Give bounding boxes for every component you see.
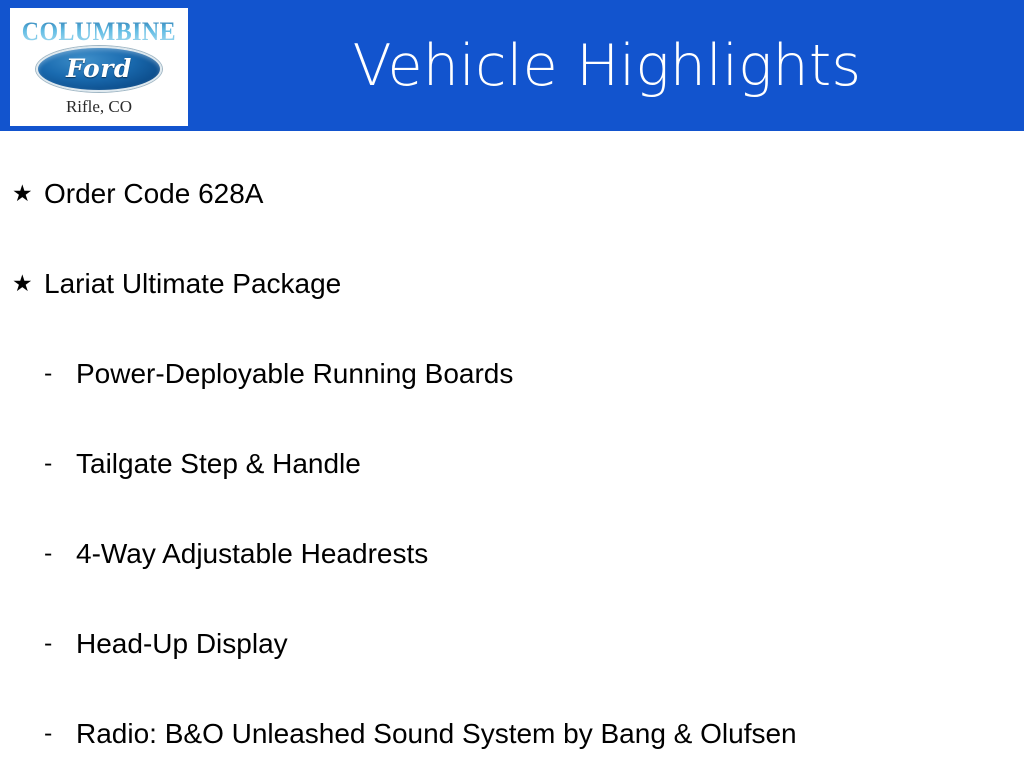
list-item: - Tailgate Step & Handle xyxy=(0,419,1024,509)
list-item-label: 4-Way Adjustable Headrests xyxy=(76,537,428,571)
page-title: Vehicle Highlights xyxy=(190,0,1024,131)
list-item: - Power-Deployable Running Boards xyxy=(0,329,1024,419)
ford-wordmark: Ford xyxy=(36,46,162,92)
dash-bullet-icon: - xyxy=(44,363,76,386)
list-item: - 4-Way Adjustable Headrests xyxy=(0,509,1024,599)
dash-bullet-icon: - xyxy=(44,723,76,746)
logo-brand-name: COLUMBINE xyxy=(22,19,176,45)
list-item-label: Head-Up Display xyxy=(76,627,288,661)
list-item: ★ Order Code 628A xyxy=(0,149,1024,239)
list-item: ★ Lariat Ultimate Package xyxy=(0,239,1024,329)
list-item-label: Radio: B&O Unleashed Sound System by Ban… xyxy=(76,717,797,751)
dash-bullet-icon: - xyxy=(44,453,76,476)
star-bullet-icon: ★ xyxy=(12,183,44,206)
slide-content: ★ Order Code 628A ★ Lariat Ultimate Pack… xyxy=(0,131,1024,768)
list-item: - Head-Up Display xyxy=(0,599,1024,689)
logo-location-label: Rifle, CO xyxy=(66,97,132,116)
list-item-label: Power-Deployable Running Boards xyxy=(76,357,513,391)
list-item: - Radio: B&O Unleashed Sound System by B… xyxy=(0,689,1024,779)
list-item-label: Order Code 628A xyxy=(44,177,263,211)
ford-oval-icon: Ford xyxy=(36,46,162,92)
list-item-label: Tailgate Step & Handle xyxy=(76,447,361,481)
star-bullet-icon: ★ xyxy=(12,273,44,296)
dash-bullet-icon: - xyxy=(44,633,76,656)
dealer-logo: COLUMBINE Ford Rifle, CO xyxy=(10,8,188,126)
list-item-label: Lariat Ultimate Package xyxy=(44,267,341,301)
dash-bullet-icon: - xyxy=(44,543,76,566)
